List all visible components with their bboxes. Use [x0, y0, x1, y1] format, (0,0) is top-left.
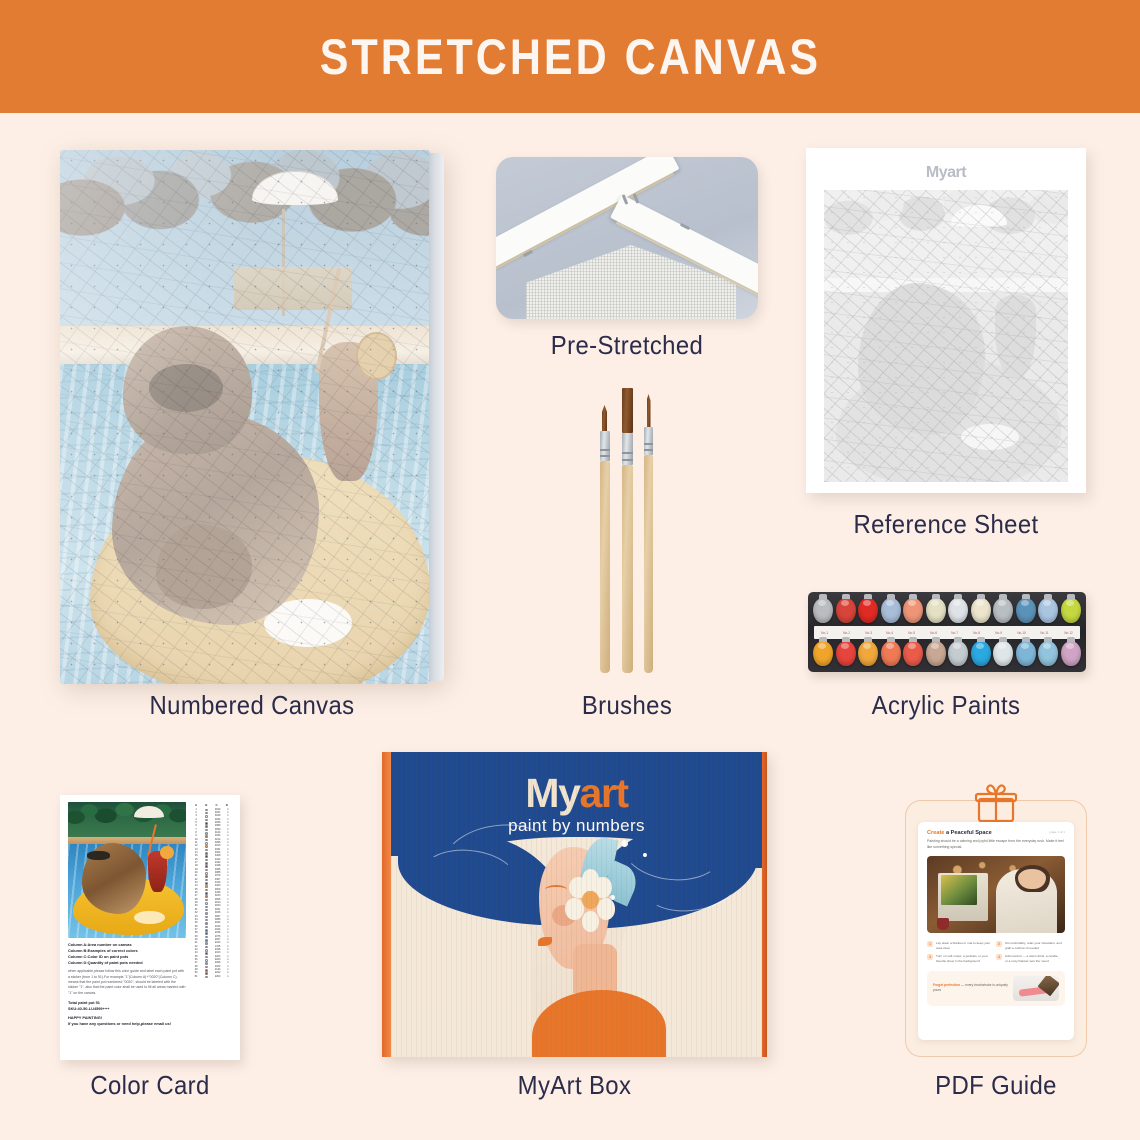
- pdf-tip-number: 4: [996, 954, 1002, 960]
- row-color-swatch: [201, 952, 211, 955]
- paint-pot: [903, 641, 923, 666]
- pdf-tip-number: 3: [927, 954, 933, 960]
- pdf-heading: page 1 of 1 Create a Peaceful Space: [927, 830, 1065, 836]
- paint-pot-cap: [1022, 637, 1030, 642]
- row-color-swatch: [201, 936, 211, 939]
- paint-pot-cap: [819, 594, 827, 599]
- row-quantity: 1: [224, 976, 232, 979]
- row-color-swatch: [201, 929, 211, 932]
- row-color-swatch: [201, 852, 211, 855]
- paint-number-label: No.6: [930, 631, 937, 635]
- paint-number-label: No.5: [908, 631, 915, 635]
- paint-number-label: No.9: [995, 631, 1002, 635]
- paint-pot-cap: [1067, 594, 1075, 599]
- row-color-swatch: [201, 922, 211, 925]
- paint-pot: [1061, 641, 1081, 666]
- page-header: STRETCHED CANVAS: [0, 0, 1140, 113]
- row-color-swatch: [201, 899, 211, 902]
- reference-sheet-logo: Myart: [824, 164, 1068, 182]
- paint-number-label: No.8: [973, 631, 980, 635]
- pdf-heading-accent: Create: [927, 830, 944, 836]
- paint-pot-cap: [909, 637, 917, 642]
- paint-pot-cap: [999, 594, 1007, 599]
- paint-pot: [881, 641, 901, 666]
- box-front-face: Myart paint by numbers: [391, 752, 762, 1057]
- paint-pot: [881, 598, 901, 623]
- row-color-swatch: [201, 902, 211, 905]
- box-right-edge: [762, 752, 767, 1057]
- paint-pot: [993, 641, 1013, 666]
- paint-pot: [971, 641, 991, 666]
- reference-sheet-image: Myart: [806, 148, 1086, 493]
- pre-stretched-image: [496, 157, 758, 319]
- reference-sheet-artwork: [824, 190, 1068, 482]
- paint-pot-cap: [954, 637, 962, 642]
- row-color-swatch: [201, 906, 211, 909]
- label-brushes: Brushes: [506, 690, 747, 721]
- label-myart-box: MyArt Box: [397, 1070, 751, 1101]
- paint-pot-cap: [909, 594, 917, 599]
- paint-number-label: No.3: [865, 631, 872, 635]
- row-color-swatch: [201, 835, 211, 838]
- pdf-tip-number: 1: [927, 941, 933, 947]
- paint-pot: [948, 641, 968, 666]
- paint-pot: [1038, 641, 1058, 666]
- acrylic-paints-image: No.1No.2No.3No.4No.5No.6No.7No.8No.9No.1…: [808, 592, 1086, 672]
- row-area-number: 51: [191, 976, 201, 979]
- row-color-swatch: [201, 926, 211, 929]
- row-color-swatch: [201, 949, 211, 952]
- paint-pot-cap: [1022, 594, 1030, 599]
- paint-pot-cap: [932, 637, 940, 642]
- paint-pot-cap: [1044, 594, 1052, 599]
- row-color-swatch: [201, 822, 211, 825]
- paint-pot-row-bottom: [813, 641, 1081, 668]
- canvas-highlight: [60, 150, 430, 684]
- row-color-swatch: [201, 832, 211, 835]
- paint-pot-cap: [864, 637, 872, 642]
- row-color-swatch: [201, 855, 211, 858]
- row-color-swatch: [201, 956, 211, 959]
- row-color-swatch: [201, 976, 211, 979]
- pdf-tip-text: Lay down a blanket or mat to keep your a…: [936, 941, 993, 950]
- paint-pot-cap: [932, 594, 940, 599]
- contact-text: If you have any questions or need help,p…: [68, 1021, 186, 1027]
- color-card-row: 5122041: [191, 975, 232, 978]
- row-color-swatch: [201, 972, 211, 975]
- gift-icon: [973, 782, 1019, 824]
- row-color-swatch: [201, 859, 211, 862]
- paint-pot: [993, 598, 1013, 623]
- paint-number-label: No.12: [1064, 631, 1073, 635]
- paint-number-label: No.2: [843, 631, 850, 635]
- paint-pot-cap: [842, 594, 850, 599]
- canvas-side-edge: [429, 153, 444, 681]
- paint-pot-cap: [842, 637, 850, 642]
- label-color-card: Color Card: [67, 1070, 233, 1101]
- paint-label-strip: No.1No.2No.3No.4No.5No.6No.7No.8No.9No.1…: [814, 626, 1080, 639]
- label-numbered-canvas: Numbered Canvas: [75, 690, 428, 721]
- paint-pot-cap: [1044, 637, 1052, 642]
- color-card-column-header: B: [201, 804, 211, 807]
- brushes-image: [596, 388, 666, 673]
- numbered-canvas-image: [60, 150, 444, 684]
- color-card-table-body: 1002012003113002914003415003616008917009…: [191, 808, 232, 979]
- pdf-tips-list: 1Lay down a blanket or mat to keep your …: [927, 939, 1065, 966]
- pdf-note-text: Forget perfection — every brushstroke is…: [933, 983, 1008, 993]
- paint-number-label: No.4: [887, 631, 894, 635]
- paint-number-label: No.1: [821, 631, 828, 635]
- row-color-swatch: [201, 879, 211, 882]
- row-color-swatch: [201, 912, 211, 915]
- label-pdf-guide: PDF Guide: [912, 1070, 1079, 1101]
- row-color-swatch: [201, 842, 211, 845]
- paint-pot: [903, 598, 923, 623]
- row-color-swatch: [201, 865, 211, 868]
- paint-pot-cap: [887, 637, 895, 642]
- color-card-column-header: D: [222, 804, 232, 807]
- row-color-swatch: [201, 829, 211, 832]
- label-reference-sheet: Reference Sheet: [817, 509, 1075, 540]
- pdf-guide-page: page 1 of 1 Create a Peaceful Space Pain…: [918, 822, 1074, 1040]
- brush-liner: [644, 394, 653, 673]
- paint-pot: [1038, 598, 1058, 623]
- row-color-swatch: [201, 839, 211, 842]
- pdf-subtitle: Painting should be a calming and joyful …: [927, 839, 1065, 850]
- row-color-swatch: [201, 812, 211, 815]
- legend-column-d: Column D:Quantity of paint pots needed: [68, 960, 186, 966]
- paint-pot: [1016, 641, 1036, 666]
- color-card-instructions: when applicable,please follow this color…: [68, 969, 186, 996]
- pdf-note: Forget perfection — every brushstroke is…: [927, 971, 1065, 1006]
- label-acrylic-paints: Acrylic Paints: [817, 690, 1075, 721]
- row-color-swatch: [201, 895, 211, 898]
- paint-pot-cap: [1067, 637, 1075, 642]
- paint-pot-cap: [819, 637, 827, 642]
- pdf-tip-item: 4Add comfort — a warm drink, a candle, o…: [996, 952, 1065, 965]
- row-color-swatch: [201, 872, 211, 875]
- paint-pot-cap: [977, 594, 985, 599]
- row-color-swatch: [201, 946, 211, 949]
- pdf-note-accent: Forget perfection: [933, 983, 960, 987]
- row-color-swatch: [201, 885, 211, 888]
- row-color-swatch: [201, 889, 211, 892]
- row-color-swatch: [201, 966, 211, 969]
- row-color-id: 2204: [212, 976, 224, 979]
- row-color-swatch: [201, 969, 211, 972]
- pdf-tip-text: Turn on soft music, a podcast, or your f…: [936, 954, 993, 963]
- row-color-swatch: [201, 875, 211, 878]
- paint-number-label: No.7: [952, 631, 959, 635]
- paint-pot: [948, 598, 968, 623]
- paint-number-label: No.11: [1040, 631, 1048, 635]
- pdf-tip-text: Sit comfortably, relax your shoulders, a…: [1005, 941, 1062, 950]
- row-color-swatch: [201, 819, 211, 822]
- paint-pot-cap: [864, 594, 872, 599]
- pdf-heading-rest: a Peaceful Space: [944, 830, 991, 836]
- paint-pot-cap: [954, 594, 962, 599]
- pdf-tip-number: 2: [996, 941, 1002, 947]
- row-color-swatch: [201, 862, 211, 865]
- row-color-swatch: [201, 882, 211, 885]
- color-card-table-header: ABCD: [191, 804, 232, 807]
- paint-pot: [836, 598, 856, 623]
- pdf-guide-image: page 1 of 1 Create a Peaceful Space Pain…: [905, 782, 1087, 1057]
- color-card-image: Column A:Area number on canvas Column B:…: [60, 795, 240, 1060]
- paint-pot: [858, 641, 878, 666]
- paint-pot: [813, 641, 833, 666]
- row-color-swatch: [201, 932, 211, 935]
- paint-number-label: No.10: [1017, 631, 1026, 635]
- sku-code: SKU:40-50-LU4599+++: [68, 1006, 186, 1012]
- row-color-swatch: [201, 809, 211, 812]
- myart-box-image: Myart paint by numbers: [382, 752, 767, 1057]
- pdf-page-number: page 1 of 1: [1050, 830, 1065, 834]
- color-card-table: ABCD 10020120031130029140034150036160089…: [191, 802, 232, 1053]
- color-card-column-header: C: [212, 804, 222, 807]
- paint-pot-cap: [999, 637, 1007, 642]
- row-color-swatch: [201, 849, 211, 852]
- paint-pot: [836, 641, 856, 666]
- row-color-swatch: [201, 959, 211, 962]
- color-card-column-header: A: [191, 804, 201, 807]
- row-color-swatch: [201, 892, 211, 895]
- row-color-swatch: [201, 909, 211, 912]
- ref-area-numbers: [824, 190, 1068, 482]
- color-card-reference-photo: [68, 802, 186, 938]
- paint-pot: [926, 641, 946, 666]
- label-pre-stretched: Pre-Stretched: [506, 330, 747, 361]
- row-color-swatch: [201, 939, 211, 942]
- page-title: STRETCHED CANVAS: [319, 28, 820, 86]
- paint-pot: [1016, 598, 1036, 623]
- row-color-swatch: [201, 825, 211, 828]
- paint-pot: [926, 598, 946, 623]
- paint-pot-row-top: [813, 598, 1081, 625]
- box-left-edge: [382, 752, 391, 1057]
- row-color-swatch: [201, 845, 211, 848]
- paint-pot: [971, 598, 991, 623]
- brush-round-small: [600, 405, 610, 673]
- row-color-swatch: [201, 869, 211, 872]
- row-color-swatch: [201, 919, 211, 922]
- paint-pot: [858, 598, 878, 623]
- canvas-face: [60, 150, 430, 684]
- box-corrugation-texture: [391, 752, 762, 1057]
- row-color-swatch: [201, 942, 211, 945]
- pdf-tip-text: Add comfort — a warm drink, a candle, or…: [1005, 954, 1062, 963]
- row-color-swatch: [201, 962, 211, 965]
- brush-flat: [622, 388, 633, 673]
- paint-pot: [813, 598, 833, 623]
- pdf-tip-item: 1Lay down a blanket or mat to keep your …: [927, 939, 996, 952]
- row-color-swatch: [201, 815, 211, 818]
- pdf-photo-painter: [927, 856, 1065, 933]
- paint-pot: [1061, 598, 1081, 623]
- paint-pot-cap: [887, 594, 895, 599]
- pdf-note-thumbnail: [1013, 976, 1059, 1001]
- pdf-tip-item: 2Sit comfortably, relax your shoulders, …: [996, 939, 1065, 952]
- paint-pot-cap: [977, 637, 985, 642]
- pdf-tip-item: 3Turn on soft music, a podcast, or your …: [927, 952, 996, 965]
- row-color-swatch: [201, 916, 211, 919]
